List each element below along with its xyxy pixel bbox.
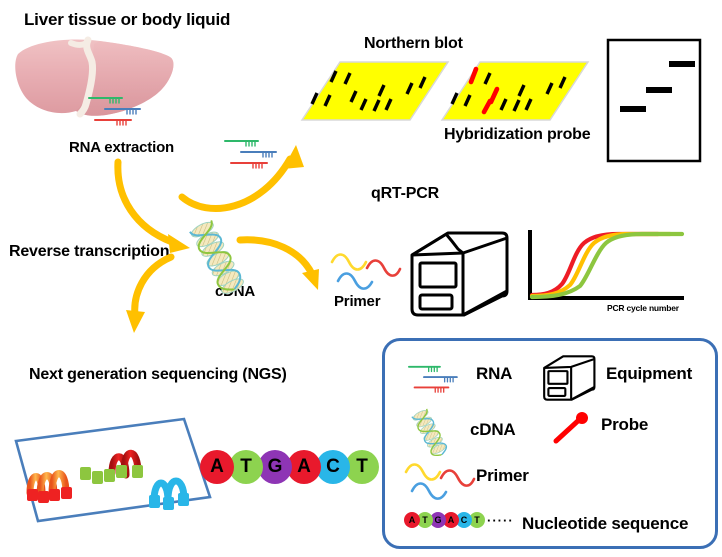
legend-label-nucleotide-sequence: Nucleotide sequence bbox=[522, 514, 688, 534]
pcr-amplification-chart bbox=[518, 226, 690, 316]
label-ngs: Next generation sequencing (NGS) bbox=[29, 366, 287, 384]
nucleotide-base-a: A bbox=[287, 450, 321, 484]
legend-label-equipment: Equipment bbox=[606, 364, 692, 384]
legend-primer-icon bbox=[404, 462, 476, 502]
nucleotide-base-g: G bbox=[258, 450, 292, 484]
legend-sequence-ellipsis: ····· bbox=[487, 513, 514, 528]
label-rna-extraction: RNA extraction bbox=[69, 139, 174, 156]
legend-label-rna: RNA bbox=[476, 364, 512, 384]
nucleotide-base-c: C bbox=[316, 450, 350, 484]
legend-probe-icon bbox=[551, 409, 591, 447]
ngs-cluster-yellow bbox=[149, 413, 189, 510]
northern-blot-gel bbox=[300, 58, 452, 132]
blot-band-3 bbox=[669, 61, 695, 67]
legend-label-cdna: cDNA bbox=[470, 420, 516, 440]
nucleotide-base-t: T bbox=[345, 450, 379, 484]
nucleotide-base-a: A bbox=[404, 512, 420, 528]
curve-orange bbox=[532, 234, 670, 296]
legend-cdna-icon bbox=[404, 406, 456, 460]
figure-canvas: Liver tissue or body liquid RNA extracti… bbox=[0, 0, 722, 557]
label-qrt-pcr: qRT-PCR bbox=[371, 185, 439, 203]
arrow-to-ngs bbox=[115, 253, 195, 343]
arrow-to-qrt-pcr bbox=[238, 232, 333, 302]
cdna-helix-icon bbox=[186, 218, 248, 296]
curve-green bbox=[532, 234, 682, 297]
nucleotide-base-a: A bbox=[200, 450, 234, 484]
legend-rna-icon bbox=[408, 362, 470, 396]
legend-label-probe: Probe bbox=[601, 415, 648, 435]
legend-label-primer: Primer bbox=[476, 466, 529, 486]
label-liver-source: Liver tissue or body liquid bbox=[24, 10, 230, 30]
hybridization-probe-gel bbox=[440, 58, 592, 132]
ngs-flowcell-illustration bbox=[8, 385, 218, 540]
legend-nucleotide-icon: ATGACT ····· bbox=[404, 512, 514, 528]
blot-result-panel bbox=[606, 38, 702, 163]
primer-waves-icon bbox=[330, 252, 402, 292]
blot-band-1 bbox=[620, 106, 646, 112]
blot-band-2 bbox=[646, 87, 672, 93]
label-northern-blot: Northern blot bbox=[364, 35, 463, 53]
legend-equipment-icon bbox=[541, 354, 596, 402]
chart-axes bbox=[528, 230, 684, 298]
equipment-icon bbox=[406, 229, 510, 319]
nucleotide-base-t: T bbox=[229, 450, 263, 484]
rna-strands-icon bbox=[88, 93, 154, 129]
label-primer: Primer bbox=[334, 293, 380, 310]
